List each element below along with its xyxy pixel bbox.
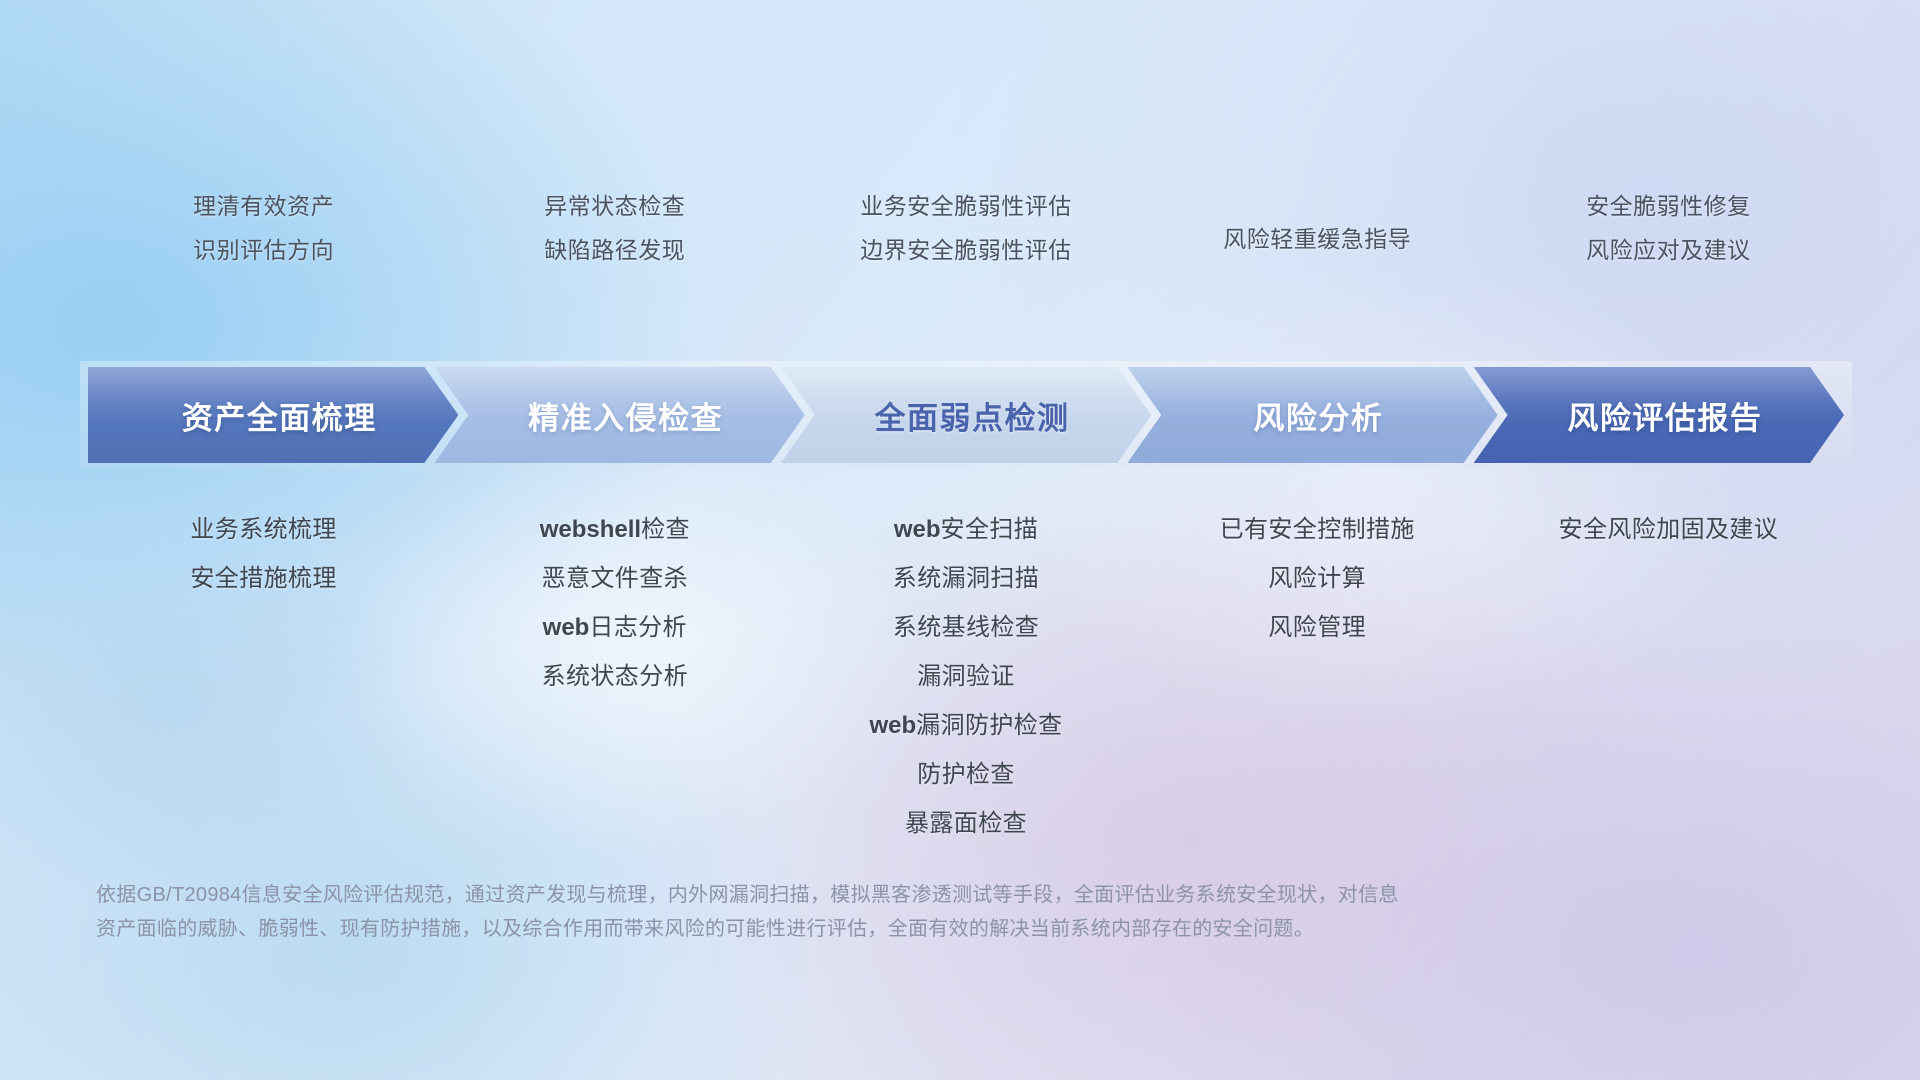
footer-description: 依据GB/T20984信息安全风险评估规范，通过资产发现与梳理，内外网漏洞扫描，… <box>96 878 1626 946</box>
bottom-column-intrusion-check: webshell检查 恶意文件查杀 web日志分析 系统状态分析 <box>439 505 790 848</box>
bottom-item: 风险计算 <box>1268 554 1366 603</box>
top-item: 安全脆弱性修复 <box>1586 184 1751 228</box>
bottom-item-en: web <box>894 516 941 543</box>
bottom-item-cn: 安全扫描 <box>941 516 1039 543</box>
bottom-item: 暴露面检查 <box>905 799 1027 848</box>
bottom-item: 安全措施梳理 <box>190 554 336 603</box>
process-arrow-risk-report[interactable]: 风险评估报告 <box>1474 367 1844 463</box>
top-column-asset-inventory: 理清有效资产 识别评估方向 <box>88 184 439 272</box>
top-item: 边界安全脆弱性评估 <box>860 228 1072 272</box>
footer-line: 依据GB/T20984信息安全风险评估规范，通过资产发现与梳理，内外网漏洞扫描，… <box>96 878 1626 912</box>
top-column-risk-analysis: 风险轻重缓急指导 <box>1142 184 1493 272</box>
top-items-row: 理清有效资产 识别评估方向 异常状态检查 缺陷路径发现 业务安全脆弱性评估 边界… <box>88 184 1844 272</box>
top-item: 风险轻重缓急指导 <box>1223 217 1411 261</box>
top-column-intrusion-check: 异常状态检查 缺陷路径发现 <box>439 184 790 272</box>
top-item: 识别评估方向 <box>193 228 334 272</box>
bottom-item: web安全扫描 <box>894 505 1038 554</box>
bottom-item: 风险管理 <box>1268 603 1366 652</box>
process-arrow-label: 风险分析 <box>1253 393 1383 438</box>
bottom-item: web日志分析 <box>543 603 687 652</box>
top-item: 异常状态检查 <box>544 184 685 228</box>
bottom-item: 系统状态分析 <box>542 652 688 701</box>
bottom-item-cn: 日志分析 <box>589 614 687 641</box>
bottom-item: 业务系统梳理 <box>190 505 336 554</box>
bottom-item: web漏洞防护检查 <box>869 701 1062 750</box>
process-arrow-intrusion-check[interactable]: 精准入侵检查 <box>434 367 804 463</box>
process-arrow-label: 风险评估报告 <box>1567 393 1762 438</box>
process-arrow-weakness-detection[interactable]: 全面弱点检测 <box>781 367 1151 463</box>
process-diagram-page: 理清有效资产 识别评估方向 异常状态检查 缺陷路径发现 业务安全脆弱性评估 边界… <box>0 0 1920 1080</box>
bottom-item: 防护检查 <box>917 750 1015 799</box>
bottom-item-en: web <box>869 712 916 739</box>
bottom-column-weakness-detection: web安全扫描 系统漏洞扫描 系统基线检查 漏洞验证 web漏洞防护检查 防护检… <box>790 505 1141 848</box>
footer-line: 资产面临的威胁、脆弱性、现有防护措施，以及综合作用而带来风险的可能性进行评估，全… <box>96 912 1626 946</box>
bottom-item: 恶意文件查杀 <box>542 554 688 603</box>
bottom-item-en: web <box>543 614 590 641</box>
bottom-item: webshell检查 <box>540 505 690 554</box>
bottom-items-row: 业务系统梳理 安全措施梳理 webshell检查 恶意文件查杀 web日志分析 … <box>88 505 1844 848</box>
process-arrow-risk-analysis[interactable]: 风险分析 <box>1127 367 1497 463</box>
top-item: 缺陷路径发现 <box>544 228 685 272</box>
bottom-item: 系统漏洞扫描 <box>893 554 1039 603</box>
bottom-item-cn: 漏洞防护检查 <box>916 712 1062 739</box>
top-item: 理清有效资产 <box>193 184 334 228</box>
bottom-item: 已有安全控制措施 <box>1220 505 1415 554</box>
top-item: 业务安全脆弱性评估 <box>860 184 1072 228</box>
process-arrow-label: 资产全面梳理 <box>182 393 377 438</box>
process-arrow-asset-inventory[interactable]: 资产全面梳理 <box>88 367 458 463</box>
bottom-item: 系统基线检查 <box>893 603 1039 652</box>
top-column-risk-report: 安全脆弱性修复 风险应对及建议 <box>1493 184 1844 272</box>
top-item: 风险应对及建议 <box>1586 228 1751 272</box>
bottom-column-asset-inventory: 业务系统梳理 安全措施梳理 <box>88 505 439 848</box>
process-arrow-label: 精准入侵检查 <box>528 393 723 438</box>
bottom-item: 漏洞验证 <box>917 652 1015 701</box>
bottom-item-en: webshell <box>540 516 641 543</box>
top-column-weakness-detection: 业务安全脆弱性评估 边界安全脆弱性评估 <box>790 184 1141 272</box>
process-arrow-band: 资产全面梳理 精准入侵检查 全面弱点检测 风险分析 风险评估报告 <box>88 367 1844 463</box>
bottom-item: 安全风险加固及建议 <box>1559 505 1779 554</box>
process-arrow-label: 全面弱点检测 <box>875 393 1070 438</box>
bottom-column-risk-analysis: 已有安全控制措施 风险计算 风险管理 <box>1142 505 1493 848</box>
bottom-item-cn: 检查 <box>641 516 690 543</box>
bottom-column-risk-report: 安全风险加固及建议 <box>1493 505 1844 848</box>
